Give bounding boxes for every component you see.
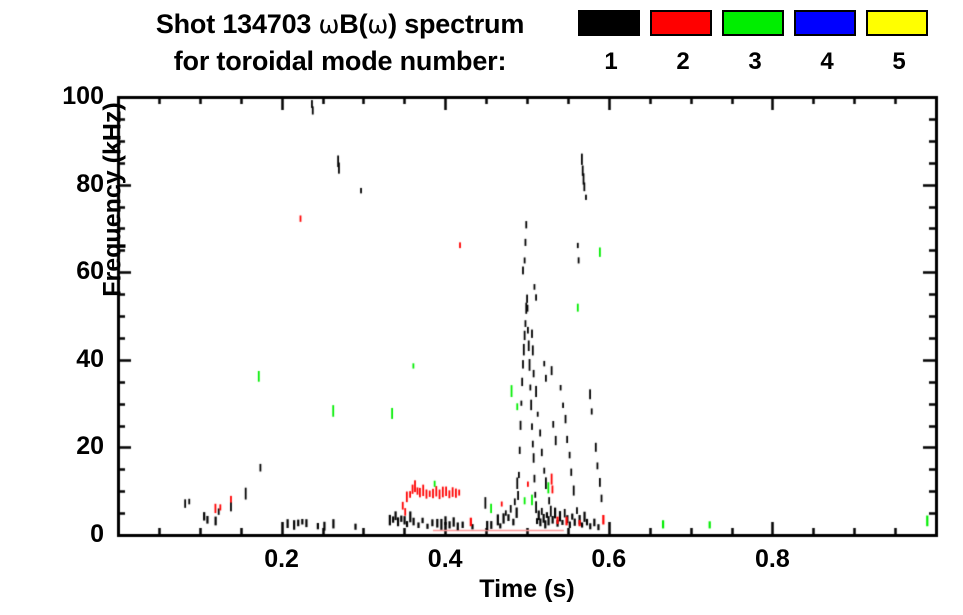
chart-title-line-1-text: Shot 134703 — [156, 9, 319, 39]
legend-label-2: 2 — [650, 50, 716, 74]
y-tick-label-40: 40 — [34, 347, 104, 372]
y-tick-label-100: 100 — [34, 84, 104, 109]
omega-symbol-2: ω — [367, 10, 388, 39]
omega-symbol-1: ω — [319, 10, 340, 39]
legend-label-3: 3 — [722, 50, 788, 74]
spectrum-plot-canvas — [0, 0, 963, 615]
x-tick-label-0.8: 0.8 — [732, 547, 812, 572]
legend-label-5: 5 — [866, 50, 932, 74]
legend-label-1: 1 — [578, 50, 644, 74]
x-axis-label: Time (s) — [118, 575, 936, 604]
legend-swatch-5 — [866, 10, 928, 36]
y-tick-label-60: 60 — [34, 259, 104, 284]
x-tick-label-0.6: 0.6 — [569, 547, 649, 572]
legend-item-5[interactable]: 5 — [866, 10, 932, 74]
legend-swatch-3 — [722, 10, 784, 36]
y-tick-label-0: 0 — [34, 522, 104, 547]
legend-item-4[interactable]: 4 — [794, 10, 860, 74]
x-tick-label-0.4: 0.4 — [405, 547, 485, 572]
chart-title-line-2: for toroidal mode number: — [110, 43, 570, 79]
y-tick-label-80: 80 — [34, 172, 104, 197]
chart-title-line-1-mid: B( — [339, 9, 367, 39]
chart-title-line-1: Shot 134703 ωB(ω) spectrum — [110, 6, 570, 43]
legend-label-4: 4 — [794, 50, 860, 74]
y-tick-label-20: 20 — [34, 434, 104, 459]
legend-swatch-4 — [794, 10, 856, 36]
chart-title: Shot 134703 ωB(ω) spectrum for toroidal … — [110, 6, 570, 79]
legend-swatch-1 — [578, 10, 640, 36]
legend-item-3[interactable]: 3 — [722, 10, 788, 74]
legend-swatch-2 — [650, 10, 712, 36]
x-tick-label-0.2: 0.2 — [242, 547, 322, 572]
spectrum-figure: Shot 134703 ωB(ω) spectrum for toroidal … — [0, 0, 963, 615]
chart-title-line-1-suffix: ) spectrum — [388, 9, 524, 39]
legend-item-2[interactable]: 2 — [650, 10, 716, 74]
mode-number-legend: 12345 — [578, 10, 958, 88]
legend-item-1[interactable]: 1 — [578, 10, 644, 74]
